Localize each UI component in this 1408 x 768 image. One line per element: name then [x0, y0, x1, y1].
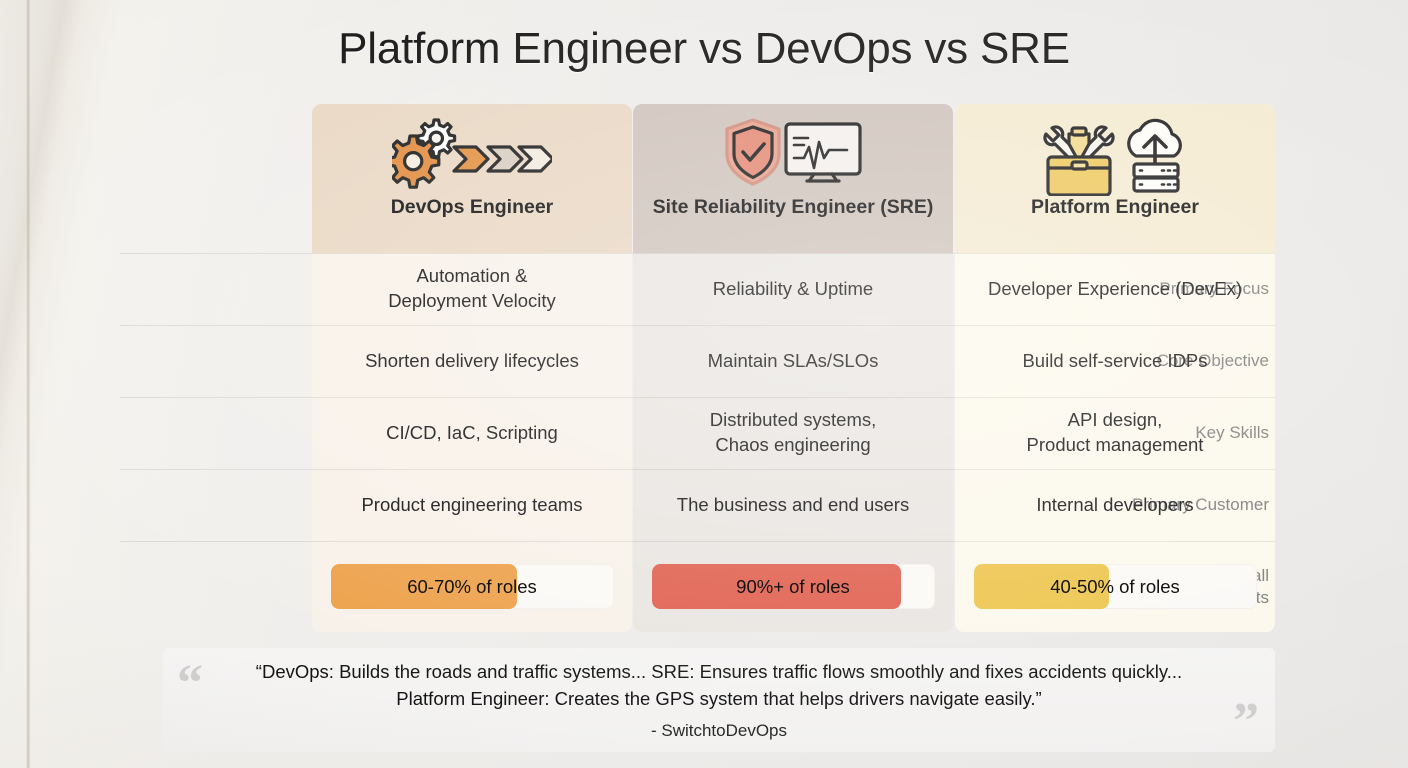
cell-r0-c2: Developer Experience (DevEx)	[955, 253, 1275, 325]
progress-track: 60-70% of roles	[331, 564, 614, 609]
toolbox-cloud-icon	[1036, 104, 1194, 196]
cell-r2-c2: API design,Product management	[955, 397, 1275, 469]
column-title: Site Reliability Engineer (SRE)	[653, 198, 934, 218]
shield-monitor-icon	[717, 104, 869, 196]
cell-r3-c0: Product engineering teams	[312, 469, 632, 541]
progress-track: 90%+ of roles	[652, 564, 935, 609]
cell-r2-c1: Distributed systems,Chaos engineering	[633, 397, 953, 469]
column-title: Platform Engineer	[1031, 198, 1199, 218]
cell-r1-c1: Maintain SLAs/SLOs	[633, 325, 953, 397]
comparison-grid: DevOps Engineer	[120, 104, 1275, 632]
cell-r3-c2: Internal developers	[955, 469, 1275, 541]
quote-open-icon: “	[177, 658, 203, 710]
quote-panel: “ ” “DevOps: Builds the roads and traffi…	[163, 648, 1275, 752]
cell-r1-c0: Shorten delivery lifecycles	[312, 325, 632, 397]
column-title: DevOps Engineer	[391, 198, 554, 218]
quote-close-icon: ”	[1233, 696, 1259, 748]
cell-r1-c2: Build self-service IDPs	[955, 325, 1275, 397]
column-header-sre: Site Reliability Engineer (SRE)	[633, 104, 953, 253]
cell-r2-c0: CI/CD, IaC, Scripting	[312, 397, 632, 469]
oncall-bar-cell-2: 40-50% of roles	[955, 541, 1275, 632]
cell-r0-c1: Reliability & Uptime	[633, 253, 953, 325]
quote-line-2: Platform Engineer: Creates the GPS syste…	[396, 686, 1041, 712]
column-header-platform: Platform Engineer	[955, 104, 1275, 253]
progress-label: 40-50% of roles	[974, 564, 1257, 609]
progress-label: 90%+ of roles	[652, 564, 935, 609]
infographic-page: Platform Engineer vs DevOps vs SRE	[0, 0, 1408, 768]
paper-crease	[26, 0, 31, 768]
quote-line-1: “DevOps: Builds the roads and traffic sy…	[256, 659, 1182, 685]
progress-track: 40-50% of roles	[974, 564, 1257, 609]
quote-attribution: - SwitchtoDevOps	[651, 721, 787, 741]
cell-r0-c0: Automation &Deployment Velocity	[312, 253, 632, 325]
column-header-devops: DevOps Engineer	[312, 104, 632, 253]
oncall-bar-cell-0: 60-70% of roles	[312, 541, 632, 632]
cell-r3-c1: The business and end users	[633, 469, 953, 541]
progress-label: 60-70% of roles	[331, 564, 614, 609]
page-title: Platform Engineer vs DevOps vs SRE	[0, 24, 1408, 74]
gears-pipeline-icon	[392, 104, 552, 196]
oncall-bar-cell-1: 90%+ of roles	[633, 541, 953, 632]
